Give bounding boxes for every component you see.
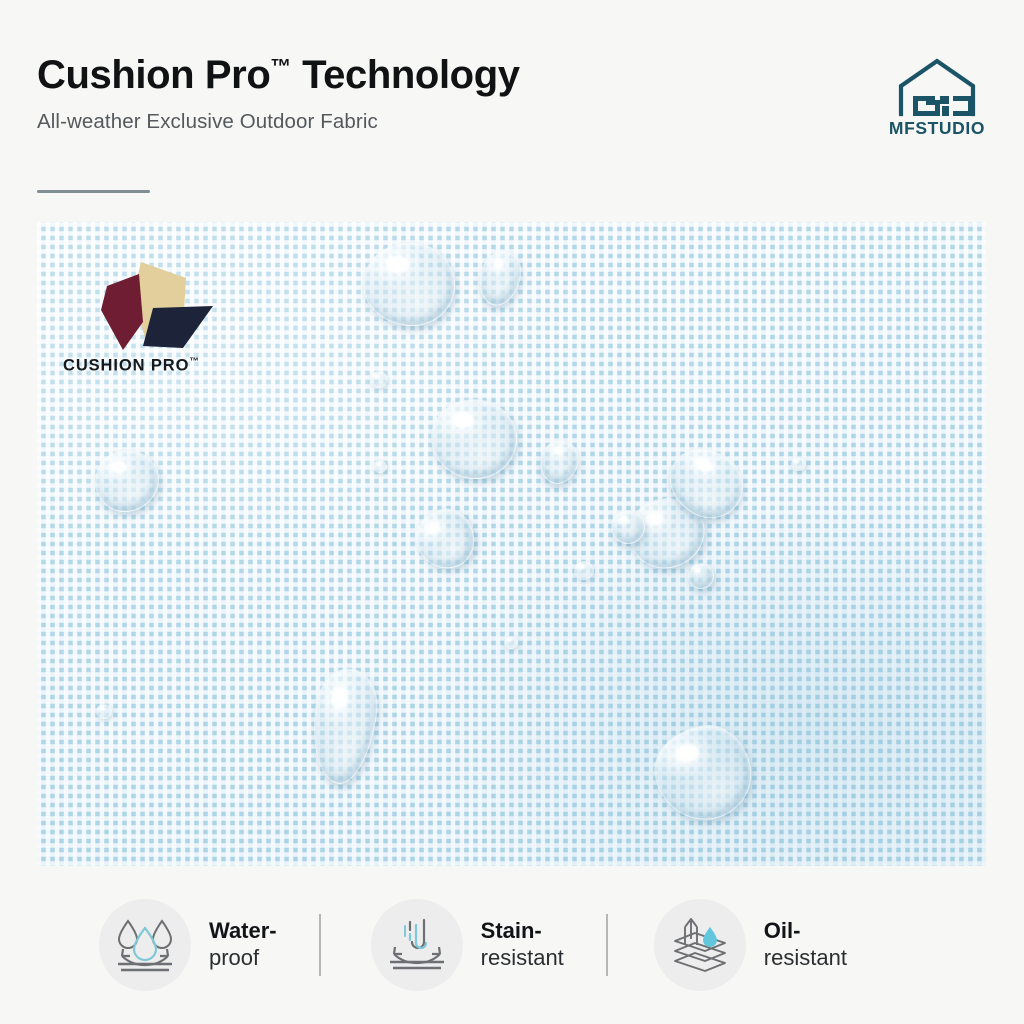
feature-line2: resistant [764,945,847,972]
feature-divider [606,914,608,976]
water-droplet [96,704,112,719]
title-main: Cushion Pro [37,53,270,97]
water-droplet [431,399,517,479]
feature-line1: Water- [209,918,277,945]
oil-resistant-icon-badge [654,899,746,991]
water-droplet-repel-icon [114,916,176,974]
water-droplet [370,371,388,388]
product-feature-page: Cushion Pro™ Technology All-weather Excl… [0,0,1024,1024]
stain-resistant-label: Stain- resistant [481,918,564,972]
monogram-glyph [913,96,973,116]
water-droplet [373,460,387,473]
feature-divider [319,914,321,976]
water-droplet [574,561,594,580]
stain-resistant-icon-badge [371,899,463,991]
feature-line2: proof [209,945,277,972]
water-droplet [791,457,806,471]
header: Cushion Pro™ Technology All-weather Excl… [37,54,987,204]
badge-text: CUSHION PRO [63,357,189,375]
stain-repel-icon [386,916,448,974]
waterproof-icon-badge [99,899,191,991]
page-subtitle: All-weather Exclusive Outdoor Fabric [37,110,987,134]
water-droplet [688,563,714,589]
house-monogram-icon [887,56,987,118]
feature-waterproof[interactable]: Water- proof [99,899,277,991]
cushion-pro-label: CUSHION PRO™ [63,356,233,376]
title-suffix: Technology [291,53,519,97]
feature-line2: resistant [481,945,564,972]
feature-list: Water- proof [37,890,986,1000]
water-droplet [504,636,518,649]
maroon-shape [101,274,143,350]
brand-name: MFSTUDIO [887,120,987,138]
accent-divider [37,190,150,193]
cushion-pro-mark [71,250,221,350]
feature-line1: Oil- [764,918,847,945]
title-trademark-symbol: ™ [270,56,291,79]
brand-logo: MFSTUDIO [887,56,987,142]
cushion-pro-shapes-icon [71,250,221,350]
water-droplet [363,242,455,326]
page-title: Cushion Pro™ Technology [37,54,987,96]
oil-droplet [703,927,717,947]
fabric-image: CUSHION PRO™ [37,222,986,866]
feature-line1: Stain- [481,918,564,945]
feature-stain-resistant[interactable]: Stain- resistant [371,899,564,991]
navy-shape [143,306,213,348]
badge-trademark-symbol: ™ [189,356,199,367]
oil-layers-repel-icon [669,915,731,975]
feature-oil-resistant[interactable]: Oil- resistant [654,899,847,991]
waterproof-label: Water- proof [209,918,277,972]
cushion-pro-badge: CUSHION PRO™ [63,250,233,388]
water-droplet [611,510,645,544]
oil-resistant-label: Oil- resistant [764,918,847,972]
